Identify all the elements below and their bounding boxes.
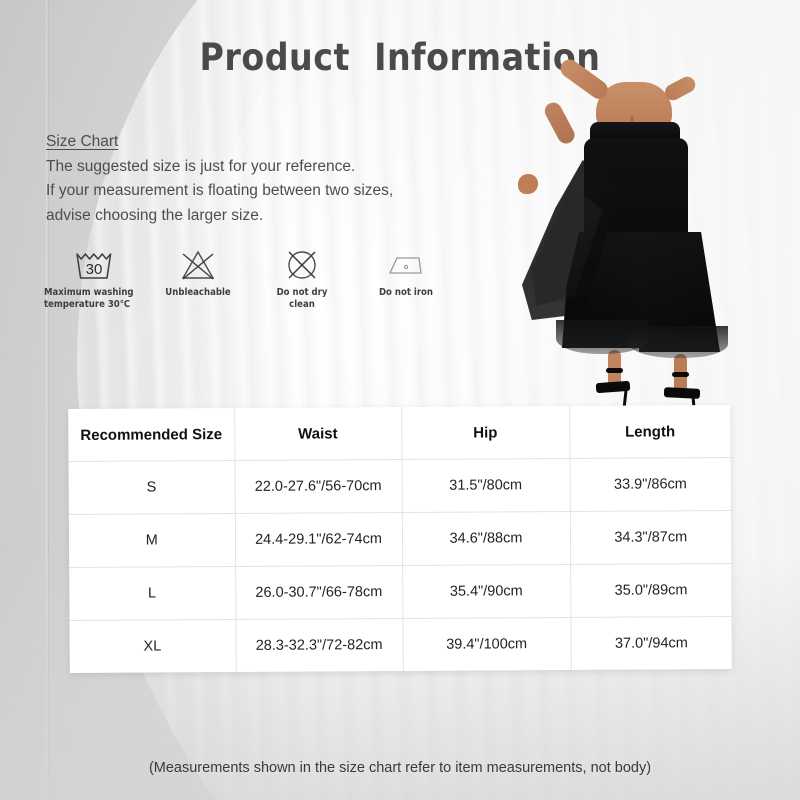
cell-size: XL <box>69 620 235 674</box>
cell-waist: 24.4-29.1"/62-74cm <box>235 512 402 566</box>
care-symbol-dry-clean-label: Do not dry clean <box>264 287 340 311</box>
do-not-iron-icon <box>386 246 426 284</box>
cell-length: 34.3"/87cm <box>570 510 731 564</box>
wash-tub-30-icon: 30 <box>74 246 114 284</box>
size-chart-heading: Size Chart <box>46 130 466 155</box>
care-symbol-iron-label: Do not iron <box>379 287 433 299</box>
product-photo <box>478 82 778 412</box>
care-symbol-iron: Do not iron <box>368 246 444 299</box>
cell-hip: 31.5"/80cm <box>402 458 570 512</box>
product-information-page: Product Information Size Chart The sugge… <box>0 0 800 800</box>
size-chart-table: Recommended Size Waist Hip Length S 22.0… <box>68 405 732 673</box>
column-header-hip: Hip <box>401 406 569 460</box>
table-header-row: Recommended Size Waist Hip Length <box>68 405 730 462</box>
cell-hip: 34.6"/88cm <box>402 511 570 565</box>
cell-waist: 26.0-30.7"/66-78cm <box>235 565 402 619</box>
cell-hip: 39.4"/100cm <box>402 617 570 671</box>
size-chart-note-line-3: advise choosing the larger size. <box>46 204 466 229</box>
table-row: S 22.0-27.6"/56-70cm 31.5"/80cm 33.9"/86… <box>69 457 731 514</box>
do-not-dry-clean-circle-icon <box>284 246 320 284</box>
cell-size: M <box>69 514 235 568</box>
cell-size: L <box>69 567 235 621</box>
table-row: XL 28.3-32.3"/72-82cm 39.4"/100cm 37.0"/… <box>69 616 731 673</box>
care-symbols-row: 30 Maximum washing temperature 30℃ Unble… <box>56 246 444 311</box>
size-chart-note-line-1: The suggested size is just for your refe… <box>46 155 466 180</box>
size-chart-note: Size Chart The suggested size is just fo… <box>46 130 466 228</box>
do-not-bleach-triangle-icon <box>179 246 217 284</box>
size-chart-note-line-2: If your measurement is floating between … <box>46 179 466 204</box>
table-row: M 24.4-29.1"/62-74cm 34.6"/88cm 34.3"/87… <box>69 510 731 567</box>
care-symbol-dry-clean: Do not dry clean <box>264 246 340 311</box>
column-header-waist: Waist <box>234 407 401 461</box>
cell-length: 35.0"/89cm <box>570 563 731 617</box>
cell-waist: 22.0-27.6"/56-70cm <box>235 459 402 513</box>
measurement-disclaimer: (Measurements shown in the size chart re… <box>0 760 800 776</box>
cell-length: 33.9"/86cm <box>570 457 731 511</box>
column-header-recommended-size: Recommended Size <box>68 408 234 462</box>
cell-length: 37.0"/94cm <box>570 616 731 669</box>
cell-hip: 35.4"/90cm <box>402 564 570 618</box>
care-symbol-bleach: Unbleachable <box>160 246 236 299</box>
cell-waist: 28.3-32.3"/72-82cm <box>235 618 402 672</box>
size-chart-table-container: Recommended Size Waist Hip Length S 22.0… <box>68 405 732 673</box>
care-symbol-bleach-label: Unbleachable <box>165 287 230 299</box>
column-header-length: Length <box>569 405 730 458</box>
care-symbol-washing: 30 Maximum washing temperature 30℃ <box>56 246 132 311</box>
care-symbol-washing-label: Maximum washing temperature 30℃ <box>44 287 136 311</box>
svg-text:30: 30 <box>86 261 103 278</box>
table-row: L 26.0-30.7"/66-78cm 35.4"/90cm 35.0"/89… <box>69 563 731 620</box>
cell-size: S <box>69 461 235 515</box>
page-title: Product Information <box>0 36 800 79</box>
